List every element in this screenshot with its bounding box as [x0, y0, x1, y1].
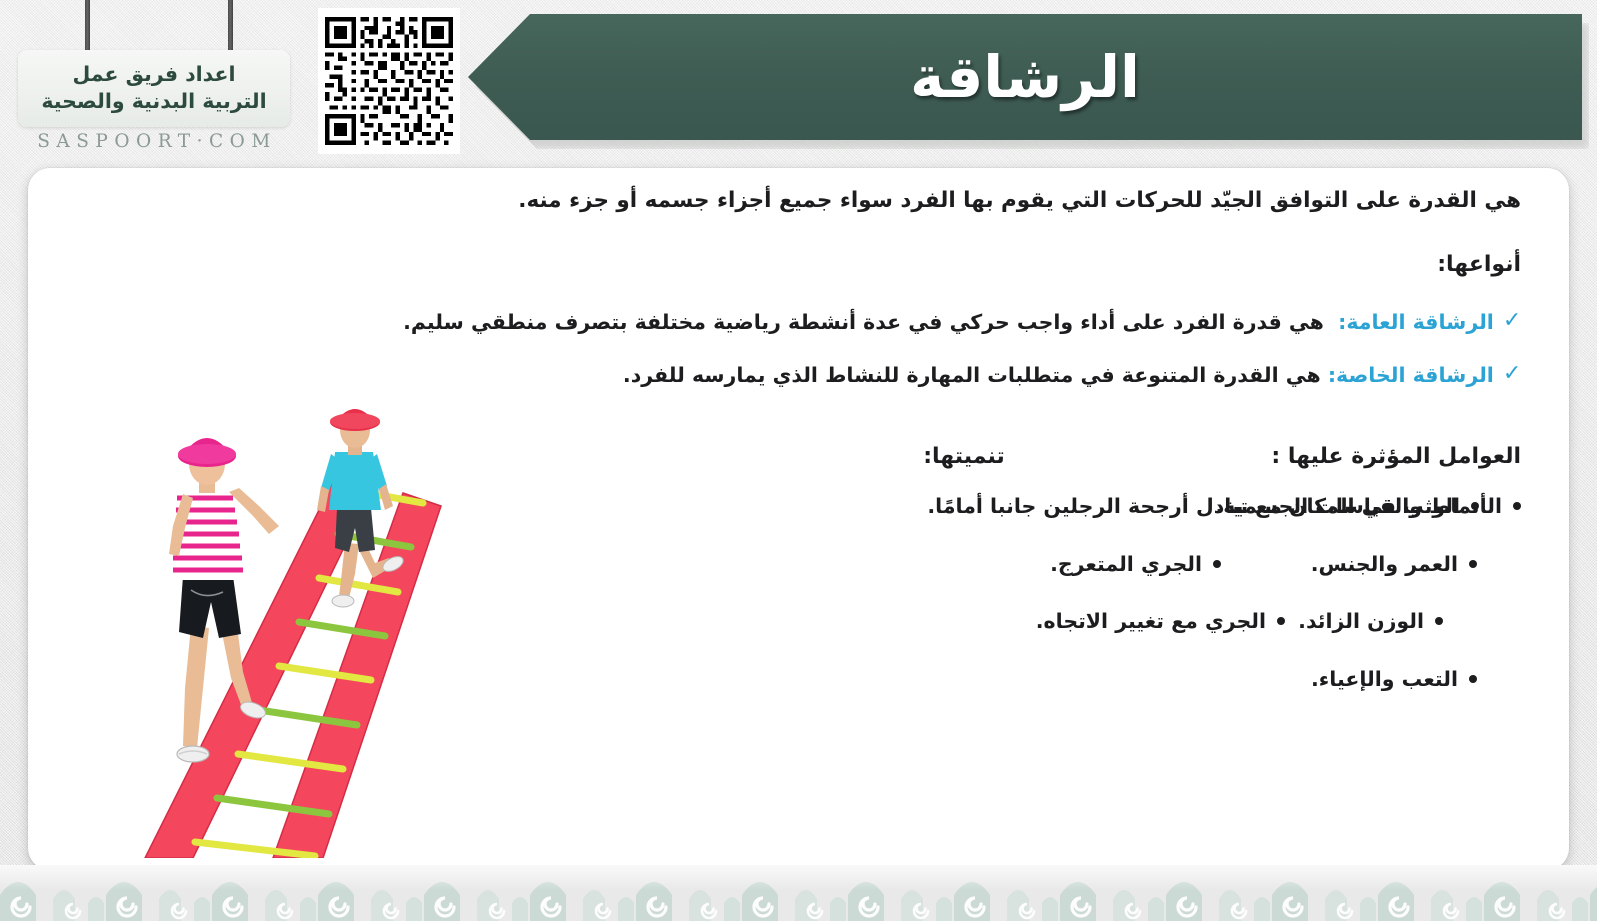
logo-line-1: اعداد فريق عمل: [28, 61, 280, 88]
type-general-term: الرشاقة العامة:: [1338, 310, 1494, 334]
development-item-label: الجري المتعرج.: [1050, 551, 1202, 579]
factors-list: الأنماط والقياسات الجسمية. العمر والجنس.…: [1215, 493, 1521, 694]
page-title: الرشاقة: [910, 43, 1140, 111]
logo-line-2: التربية البدنية والصحية: [28, 88, 280, 115]
development-heading: تنميتها:: [779, 444, 1149, 469]
factors-item-label: التعب والإعياء.: [1311, 666, 1458, 694]
list-item: الوثب في المكان مع تبادل أرجحة الرجلين ج…: [779, 493, 1479, 521]
title-banner: الرشاقة: [468, 14, 1582, 140]
development-list: الوثب في المكان مع تبادل أرجحة الرجلين ج…: [779, 493, 1149, 636]
factors-heading: العوامل المؤثرة عليها :: [1215, 444, 1521, 469]
type-special-description: هي القدرة المتنوعة في متطلبات المهارة لل…: [623, 363, 1321, 387]
types-heading: أنواعها:: [1437, 252, 1521, 277]
bullet-dot-icon: [1213, 560, 1221, 568]
type-general-description: هي قدرة الفرد على أداء واجب حركي في عدة …: [403, 310, 1324, 334]
list-item: الجري مع تغيير الاتجاه.: [779, 608, 1285, 636]
type-special-text: الرشاقة الخاصة: هي القدرة المتنوعة في مت…: [623, 361, 1494, 390]
type-special-term: الرشاقة الخاصة:: [1328, 363, 1494, 387]
list-item: العمر والجنس.: [1215, 551, 1477, 579]
type-item-general: ✓ الرشاقة العامة: هي قدرة الفرد على أداء…: [403, 308, 1521, 337]
qr-code-icon[interactable]: [318, 8, 460, 154]
type-general-text: الرشاقة العامة: هي قدرة الفرد على أداء و…: [403, 308, 1494, 337]
factors-item-label: العمر والجنس.: [1311, 551, 1458, 579]
content-card: هي القدرة على التوافق الجيّد للحركات الت…: [28, 168, 1569, 870]
title-banner-body: الرشاقة: [468, 14, 1582, 140]
bullet-dot-icon: [1435, 617, 1443, 625]
logo-plaque: اعداد فريق عمل التربية البدنية والصحية S…: [18, 50, 290, 152]
check-mark-icon: ✓: [1503, 363, 1521, 385]
agility-ladder-photo: [73, 358, 463, 858]
check-mark-icon: ✓: [1503, 310, 1521, 332]
bullet-dot-icon: [1469, 675, 1477, 683]
logo-domain-text: SASPOORT·COM: [18, 131, 290, 152]
list-item: الجري المتعرج.: [779, 551, 1221, 579]
factors-item-label: الوزن الزائد.: [1298, 608, 1424, 636]
factors-column: العوامل المؤثرة عليها : الأنماط والقياسا…: [1215, 444, 1521, 724]
list-item: التعب والإعياء.: [1215, 666, 1477, 694]
bullet-dot-icon: [1513, 502, 1521, 510]
type-item-special: ✓ الرشاقة الخاصة: هي القدرة المتنوعة في …: [623, 361, 1521, 390]
bullet-dot-icon: [1471, 502, 1479, 510]
development-column: تنميتها: الوثب في المكان مع تبادل أرجحة …: [779, 444, 1149, 666]
development-item-label: الوثب في المكان مع تبادل أرجحة الرجلين ج…: [927, 493, 1460, 521]
development-item-label: الجري مع تغيير الاتجاه.: [1036, 608, 1266, 636]
bullet-dot-icon: [1277, 617, 1285, 625]
bullet-dot-icon: [1469, 560, 1477, 568]
bottom-scroll-border: [0, 865, 1597, 921]
definition-text: هي القدرة على التوافق الجيّد للحركات الت…: [451, 185, 1521, 217]
logo-plaque-body: اعداد فريق عمل التربية البدنية والصحية: [18, 50, 290, 127]
